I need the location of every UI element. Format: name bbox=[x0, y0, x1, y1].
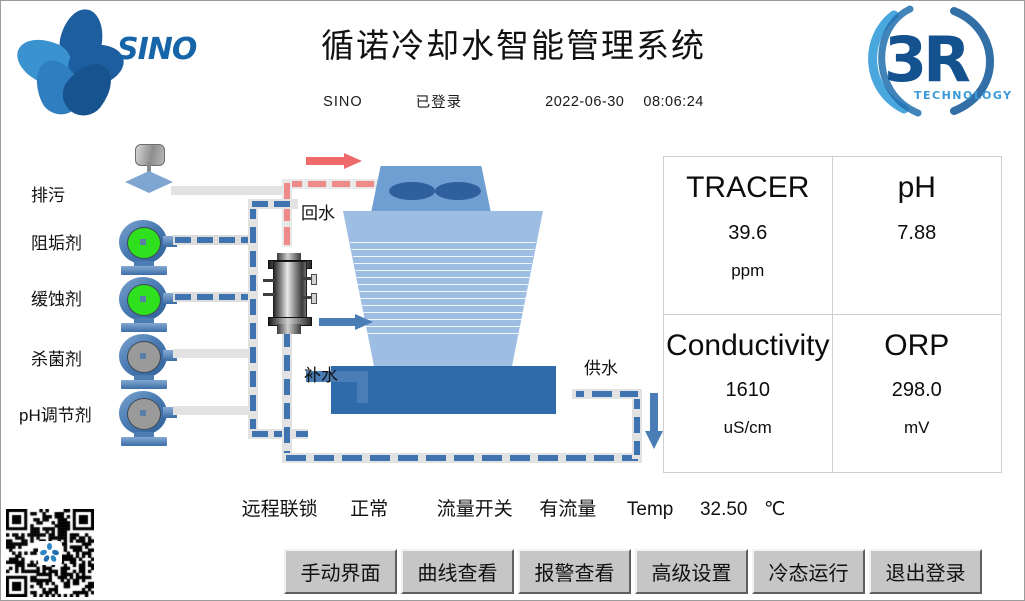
makeup-flow-arrow-icon bbox=[319, 314, 375, 330]
hx-bottom-dome-icon bbox=[277, 324, 301, 334]
trend-view-button[interactable]: 曲线查看 bbox=[401, 549, 514, 594]
dosing-pipe-biocide bbox=[173, 349, 251, 358]
cold-start-button[interactable]: 冷态运行 bbox=[752, 549, 865, 594]
dosing-pipe-inhibitor bbox=[173, 292, 251, 302]
equipment-label-biocide: 杀菌剂 bbox=[31, 345, 82, 370]
supply-flow-arrow-icon bbox=[645, 393, 663, 451]
measurement-panel: TRACER 39.6 ppm pH 7.88 Conductivity 161… bbox=[663, 156, 1002, 473]
pump-base-icon bbox=[121, 437, 167, 446]
system-time: 08:06:24 bbox=[643, 94, 703, 110]
valve-body-left-icon bbox=[125, 171, 149, 193]
pump-hub-icon bbox=[140, 296, 146, 302]
logout-button[interactable]: 退出登录 bbox=[869, 549, 982, 594]
blowdown-pipe bbox=[171, 186, 286, 195]
pump-hub-icon bbox=[140, 353, 146, 359]
measurement-name: ORP bbox=[884, 329, 949, 364]
measurement-unit: mV bbox=[904, 418, 930, 438]
measurement-ph: pH 7.88 bbox=[833, 157, 1002, 315]
heat-exchanger[interactable] bbox=[263, 251, 315, 336]
interlock-label: 远程联锁 bbox=[242, 494, 318, 521]
measurement-conductivity: Conductivity 1610 uS/cm bbox=[664, 315, 833, 473]
pump-biocide[interactable] bbox=[119, 334, 175, 386]
temp-value: 32.50 bbox=[700, 499, 748, 521]
measurement-name: TRACER bbox=[686, 171, 809, 206]
alarm-view-button[interactable]: 报警查看 bbox=[518, 549, 631, 594]
tower-fill-fins bbox=[343, 236, 543, 354]
equipment-label-ph-adjust: pH调节剂 bbox=[19, 401, 92, 426]
login-status: 已登录 bbox=[416, 91, 463, 112]
pump-hub-icon bbox=[140, 239, 146, 245]
hx-nozzle-left-lower-icon bbox=[263, 293, 277, 296]
hmi-screen: SINO 3R TECHNOLOGY 循诺冷却水智能管理系统 SINO 已登录 … bbox=[0, 0, 1025, 601]
supply-water-label: 供水 bbox=[584, 354, 618, 379]
pump-ph-adjust[interactable] bbox=[119, 391, 175, 443]
pump-base-icon bbox=[121, 380, 167, 389]
valve-body-right-icon bbox=[149, 171, 173, 193]
system-date: 2022-06-30 bbox=[545, 94, 624, 110]
user-name: SINO bbox=[323, 94, 362, 110]
hx-flange-right-upper-icon bbox=[311, 274, 317, 285]
pump-hub-icon bbox=[140, 410, 146, 416]
makeup-water-label: 补水 bbox=[304, 361, 338, 386]
flow-switch-label: 流量开关 bbox=[437, 494, 513, 521]
measurement-name: pH bbox=[898, 171, 936, 206]
measurement-orp: ORP 298.0 mV bbox=[833, 315, 1002, 473]
dosing-pipe-antiscale bbox=[173, 235, 251, 245]
blowdown-valve[interactable] bbox=[119, 144, 179, 190]
qr-center-logo bbox=[38, 541, 62, 565]
hx-nozzle-left-upper-icon bbox=[263, 279, 277, 282]
equipment-label-blowdown: 排污 bbox=[31, 181, 65, 206]
equipment-label-inhibitor: 缓蚀剂 bbox=[31, 285, 82, 310]
action-button-bar: 手动界面 曲线查看 报警查看 高级设置 冷态运行 退出登录 bbox=[284, 549, 982, 594]
hx-shell-icon bbox=[273, 261, 307, 325]
equipment-label-antiscale: 阻垢剂 bbox=[31, 229, 82, 254]
pump-antiscale[interactable] bbox=[119, 220, 175, 272]
pump-inhibitor[interactable] bbox=[119, 277, 175, 329]
page-title: 循诺冷却水智能管理系统 bbox=[1, 19, 1025, 67]
pump-base-icon bbox=[121, 266, 167, 275]
measurement-name: Conductivity bbox=[666, 329, 829, 364]
interlock-value: 正常 bbox=[350, 494, 388, 521]
return-water-label: 回水 bbox=[301, 199, 335, 224]
pump-base-icon bbox=[121, 323, 167, 332]
hx-flange-right-lower-icon bbox=[311, 293, 317, 304]
measurement-tracer: TRACER 39.6 ppm bbox=[664, 157, 833, 315]
temp-label: Temp bbox=[627, 499, 673, 521]
temp-unit: ℃ bbox=[764, 498, 785, 521]
measurement-value: 39.6 bbox=[728, 222, 767, 245]
header-info-bar: SINO 已登录 2022-06-30 08:06:24 bbox=[1, 91, 1025, 112]
tower-fan-icon bbox=[389, 182, 481, 200]
measurement-value: 1610 bbox=[726, 379, 771, 402]
status-bar: 远程联锁 正常 流量开关 有流量 Temp 32.50 ℃ bbox=[1, 494, 1025, 521]
makeup-pipe-vertical bbox=[357, 371, 368, 403]
qr-code[interactable] bbox=[6, 509, 94, 597]
dosing-pipe-ph bbox=[173, 406, 251, 415]
manual-interface-button[interactable]: 手动界面 bbox=[284, 549, 397, 594]
flow-switch-value: 有流量 bbox=[539, 494, 596, 521]
measurement-unit: ppm bbox=[731, 261, 764, 281]
measurement-value: 298.0 bbox=[892, 379, 942, 402]
advanced-settings-button[interactable]: 高级设置 bbox=[635, 549, 748, 594]
measurement-value: 7.88 bbox=[897, 222, 936, 245]
measurement-unit: uS/cm bbox=[724, 418, 772, 438]
